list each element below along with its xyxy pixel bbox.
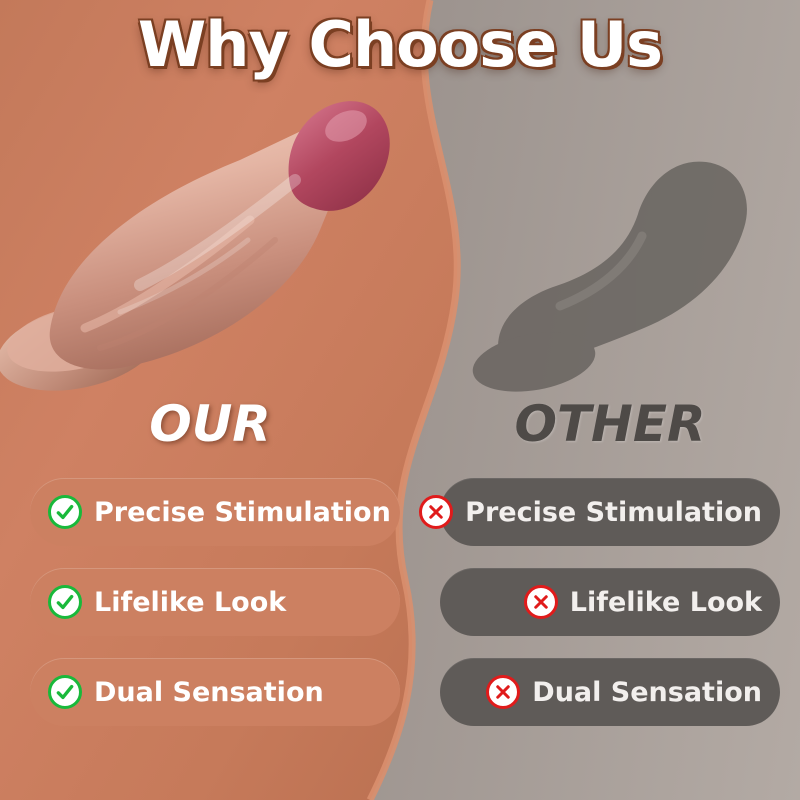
page-title: Why Choose Us [0,8,800,81]
list-item: Precise Stimulation [440,478,780,546]
feature-label: Dual Sensation [94,677,324,708]
our-feature-list: Precise Stimulation Lifelike Look Dual S… [30,478,400,726]
feature-label: Dual Sensation [532,677,762,708]
feature-label: Lifelike Look [570,587,762,618]
list-item: Lifelike Look [30,568,400,636]
list-item: Dual Sensation [440,658,780,726]
other-feature-list: Precise Stimulation Lifelike Look Dual S… [440,478,780,726]
check-circle-icon [48,675,82,709]
list-item: Precise Stimulation [30,478,400,546]
other-column-heading: OTHER [420,395,800,453]
check-circle-icon [48,585,82,619]
cross-circle-icon [524,585,558,619]
feature-label: Precise Stimulation [465,497,762,528]
our-column-heading: OUR [0,395,420,453]
feature-label: Precise Stimulation [94,497,391,528]
list-item: Dual Sensation [30,658,400,726]
cross-circle-icon [419,495,453,529]
our-product-image [0,80,410,400]
check-circle-icon [48,495,82,529]
comparison-infographic: Why Choose Us OUR OTHER Precise Stimulat… [0,0,800,800]
other-product-image [430,110,770,400]
feature-label: Lifelike Look [94,587,286,618]
cross-circle-icon [486,675,520,709]
list-item: Lifelike Look [440,568,780,636]
